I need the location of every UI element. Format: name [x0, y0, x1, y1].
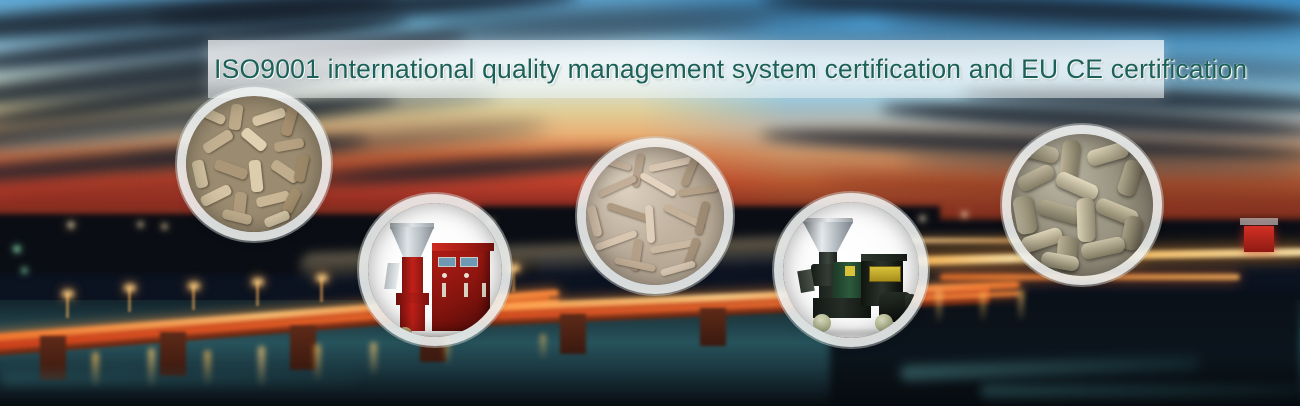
floor-shadow — [807, 330, 905, 336]
meter-display — [438, 257, 456, 267]
medallion-wood-pellets-thin[interactable] — [586, 147, 724, 285]
motor-fan-cover — [905, 294, 915, 320]
water-reflection — [936, 290, 942, 324]
medallion-image — [783, 202, 919, 338]
meter-display — [460, 257, 478, 267]
cabinet-knob — [442, 273, 447, 278]
water-sheen — [980, 384, 1300, 398]
shore-light — [920, 216, 925, 221]
cabinet-switch — [482, 283, 486, 297]
medallion-image — [186, 96, 322, 232]
medallion-image — [1011, 134, 1153, 276]
water-reflection — [370, 342, 377, 376]
wheel — [875, 314, 893, 332]
building-roof — [1240, 218, 1278, 225]
warning-sticker — [845, 266, 855, 276]
yellow-label — [869, 266, 901, 282]
water-reflection — [540, 334, 546, 360]
lamp-glow — [252, 278, 264, 286]
shore-light — [68, 222, 74, 228]
medallion-image — [586, 147, 724, 285]
lamp-glow — [508, 264, 520, 272]
shore-light — [162, 224, 167, 229]
water-sheen — [0, 372, 360, 386]
promo-banner: ISO9001 international quality management… — [0, 0, 1300, 406]
page-title: ISO9001 international quality management… — [214, 48, 1158, 90]
medallion-wood-pellets-light[interactable] — [186, 96, 322, 232]
water-reflection — [1018, 290, 1024, 322]
medallion-green-pellet-mill[interactable] — [783, 202, 919, 338]
water-reflection — [980, 292, 986, 322]
bridge-pier — [290, 326, 316, 370]
cabinet-switch — [464, 283, 468, 297]
control-box-top — [861, 254, 907, 261]
bridge-pier — [560, 314, 586, 354]
medallion-wood-pellets-coarse[interactable] — [1011, 134, 1153, 276]
red-building-sign — [1244, 226, 1274, 252]
shore-light — [138, 222, 143, 227]
lamp-glow — [316, 274, 328, 282]
bridge-pier — [160, 332, 186, 376]
wheel — [813, 314, 831, 332]
medallion-image — [368, 203, 502, 337]
bridge-pier — [700, 308, 726, 346]
water-reflection — [444, 336, 450, 366]
cabinet-switch — [442, 283, 446, 297]
lamp-glow — [188, 282, 200, 290]
medallion-red-pellet-mill[interactable] — [368, 203, 502, 337]
cabinet-top — [432, 243, 494, 251]
shore-light — [962, 212, 967, 217]
lamp-glow — [124, 284, 136, 292]
shore-light — [14, 246, 20, 252]
cabinet-knob — [464, 273, 469, 278]
floor-shadow — [394, 334, 486, 337]
pellet — [1076, 198, 1096, 243]
lamp-glow — [62, 290, 74, 298]
shore-light — [22, 268, 27, 273]
